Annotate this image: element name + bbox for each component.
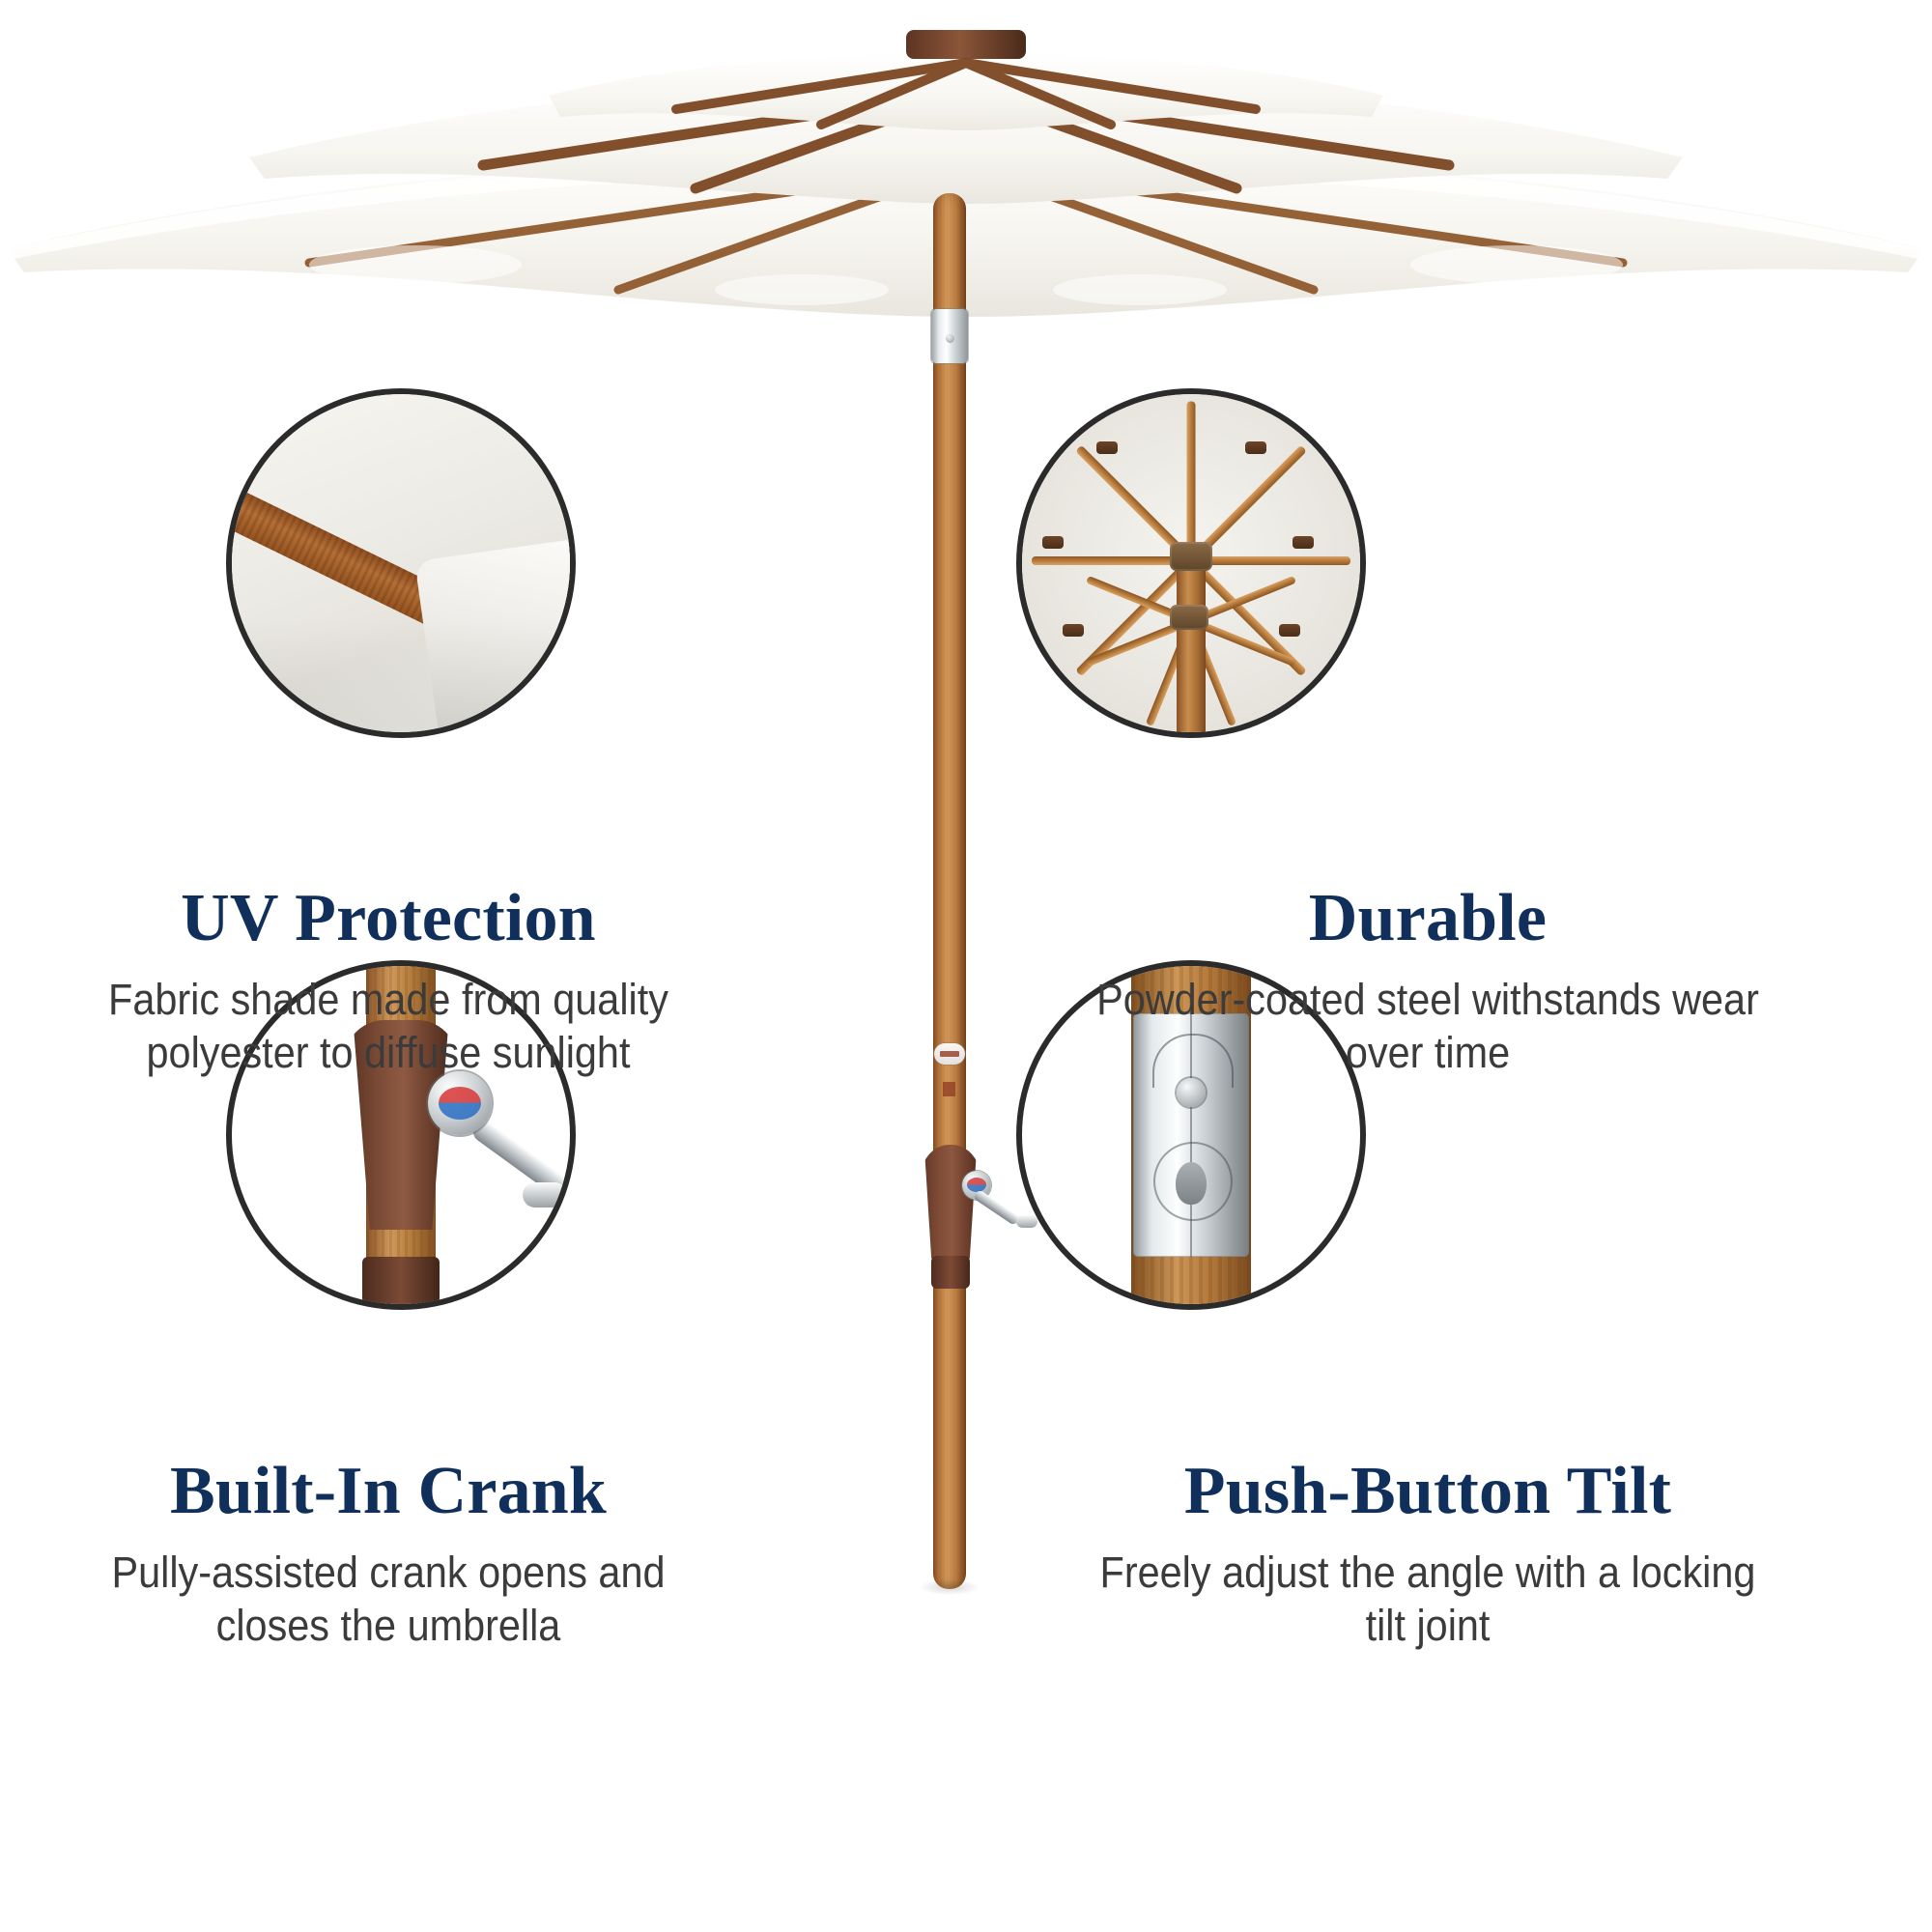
feature-description-built-in-crank: Pully-assisted crank opens and closes th…: [50, 1547, 725, 1653]
umbrella-pole-assembly: [933, 193, 972, 1589]
crank-inset-grip: [523, 1182, 567, 1207]
feature-title-durable: Durable: [1061, 884, 1795, 954]
crank-inset-lower-cap: [362, 1257, 440, 1304]
crank-inset-open-close-dial: [428, 1071, 492, 1135]
feature-title-push-button-tilt: Push-Button Tilt: [1061, 1457, 1795, 1527]
crank-arm[interactable]: [973, 1189, 1020, 1226]
finial: [906, 30, 1026, 59]
wood-pole: [933, 193, 966, 1589]
feature-description-durable: Powder-coated steel withstands wear over…: [1090, 974, 1765, 1080]
tilt-joint-collar[interactable]: [931, 309, 968, 363]
tilt-inset-drop: [1176, 1162, 1207, 1205]
center-pole-underside: [1177, 543, 1206, 732]
inset-photo-durable: [1022, 394, 1360, 732]
canopy-underside-icon: [1022, 394, 1360, 732]
feature-description-push-button-tilt: Freely adjust the angle with a locking t…: [1090, 1547, 1765, 1653]
crank-grip[interactable]: [1016, 1215, 1037, 1228]
upper-hub-icon: [1170, 542, 1212, 571]
crank-lower-cap: [931, 1256, 970, 1289]
pole-brand-label: [934, 1043, 965, 1065]
feature-title-uv-protection: UV Protection: [21, 884, 755, 954]
fabric-shadow: [232, 617, 570, 732]
feature-title-built-in-crank: Built-In Crank: [21, 1457, 755, 1527]
crank-housing: [921, 1145, 980, 1259]
feature-block-durable: Durable Powder-coated steel withstands w…: [1061, 884, 1795, 1080]
push-button-icon: [1177, 1078, 1206, 1107]
fabric-closeup-icon: [232, 394, 570, 732]
product-hero-image: [0, 0, 1932, 1642]
pole-sticker: [943, 1082, 955, 1096]
feature-description-uv-protection: Fabric shade made from quality polyester…: [50, 974, 725, 1080]
pole-ground-shadow: [920, 1579, 980, 1595]
infographic-canvas: UV Protection Fabric shade made from qua…: [0, 0, 1932, 1932]
canopy-tier-1: [541, 24, 1391, 140]
feature-block-built-in-crank: Built-In Crank Pully-assisted crank open…: [21, 1457, 755, 1653]
lower-hub-icon: [1170, 605, 1208, 630]
feature-block-push-button-tilt: Push-Button Tilt Freely adjust the angle…: [1061, 1457, 1795, 1653]
inset-photo-uv-protection: [232, 394, 570, 732]
feature-block-uv-protection: UV Protection Fabric shade made from qua…: [21, 884, 755, 1080]
